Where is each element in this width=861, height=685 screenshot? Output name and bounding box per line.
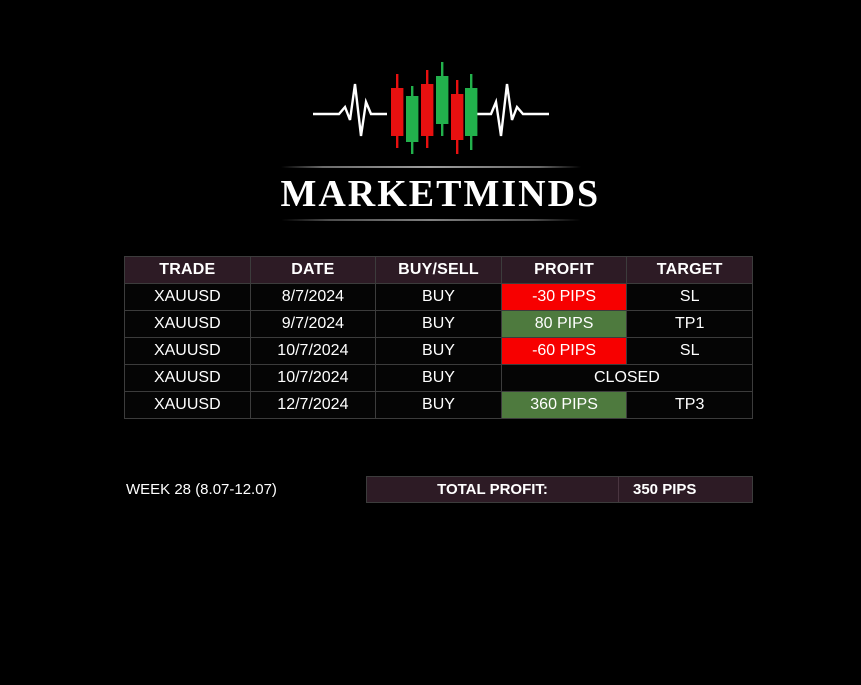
ecg-line-left <box>313 84 387 136</box>
table-row: XAUUSD10/7/2024BUY-60 PIPSSL <box>125 338 753 365</box>
table-header-row: TRADE DATE BUY/SELL PROFIT TARGET <box>125 257 753 284</box>
candle-3-down <box>421 70 433 148</box>
table-row: XAUUSD10/7/2024BUYCLOSED <box>125 365 753 392</box>
cell-target: SL <box>627 338 753 365</box>
cell-trade: XAUUSD <box>125 284 251 311</box>
cell-trade: XAUUSD <box>125 365 251 392</box>
cell-profit: -30 PIPS <box>501 284 627 311</box>
brand-logo-block: MARKETMINDS <box>0 62 861 228</box>
ecg-line-right <box>475 84 549 136</box>
cell-buysell: BUY <box>376 392 502 419</box>
cell-date: 12/7/2024 <box>250 392 376 419</box>
total-profit-value: 350 PIPS <box>619 477 752 502</box>
candle-1-down <box>391 74 403 148</box>
wordmark-wrap: MARKETMINDS <box>281 160 581 228</box>
cell-date: 10/7/2024 <box>250 365 376 392</box>
cell-profit-merged: CLOSED <box>501 365 752 392</box>
cell-target: TP1 <box>627 311 753 338</box>
total-profit-bar: TOTAL PROFIT: 350 PIPS <box>366 476 753 503</box>
cell-target: SL <box>627 284 753 311</box>
table-row: XAUUSD9/7/2024BUY80 PIPSTP1 <box>125 311 753 338</box>
candle-2-up <box>406 86 418 154</box>
table-row: XAUUSD12/7/2024BUY360 PIPSTP3 <box>125 392 753 419</box>
cell-profit: -60 PIPS <box>501 338 627 365</box>
trade-results-table: TRADE DATE BUY/SELL PROFIT TARGET XAUUSD… <box>124 256 753 419</box>
cell-buysell: BUY <box>376 284 502 311</box>
cell-date: 10/7/2024 <box>250 338 376 365</box>
cell-date: 8/7/2024 <box>250 284 376 311</box>
column-header-target: TARGET <box>627 257 753 284</box>
cell-profit: 80 PIPS <box>501 311 627 338</box>
cell-buysell: BUY <box>376 311 502 338</box>
candlestick-heartbeat-icon <box>311 62 551 154</box>
week-range-label: WEEK 28 (8.07-12.07) <box>126 481 277 498</box>
cell-profit: 360 PIPS <box>501 392 627 419</box>
table-body: XAUUSD8/7/2024BUY-30 PIPSSLXAUUSD9/7/202… <box>125 284 753 419</box>
candle-6-up <box>465 74 477 150</box>
cell-date: 9/7/2024 <box>250 311 376 338</box>
cell-trade: XAUUSD <box>125 311 251 338</box>
cell-buysell: BUY <box>376 338 502 365</box>
cell-trade: XAUUSD <box>125 338 251 365</box>
column-header-trade: TRADE <box>125 257 251 284</box>
cell-target: TP3 <box>627 392 753 419</box>
brand-wordmark: MARKETMINDS <box>281 168 581 219</box>
column-header-profit: PROFIT <box>501 257 627 284</box>
total-profit-label: TOTAL PROFIT: <box>367 477 619 502</box>
cell-buysell: BUY <box>376 365 502 392</box>
candle-5-down <box>451 80 463 154</box>
wordmark-rule-bottom <box>281 219 581 221</box>
column-header-buysell: BUY/SELL <box>376 257 502 284</box>
column-header-date: DATE <box>250 257 376 284</box>
candle-4-up <box>436 62 448 136</box>
cell-trade: XAUUSD <box>125 392 251 419</box>
table-row: XAUUSD8/7/2024BUY-30 PIPSSL <box>125 284 753 311</box>
